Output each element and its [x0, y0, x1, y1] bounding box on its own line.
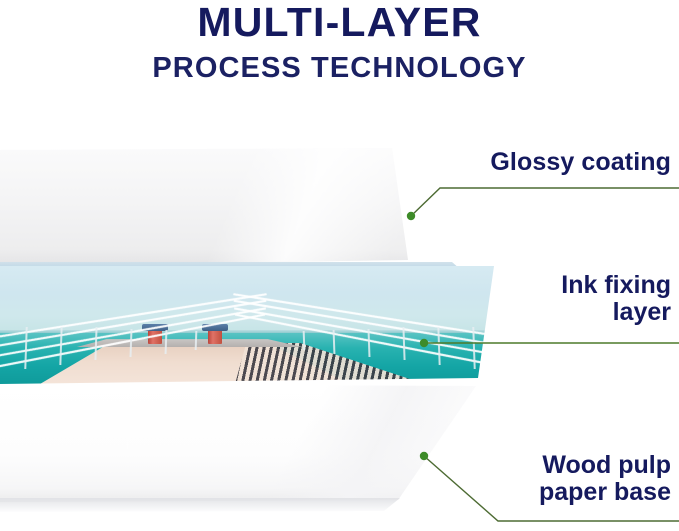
page-subtitle: PROCESS TECHNOLOGY — [0, 54, 679, 83]
photo-bollard-left — [148, 330, 162, 344]
pier-photograph — [0, 266, 500, 384]
wood-pulp-base-shadow — [0, 498, 420, 512]
callout-base-line-2: paper base — [441, 479, 671, 506]
photo-sky — [0, 266, 500, 332]
callout-glossy-coating: Glossy coating — [490, 149, 671, 176]
callout-ink-fixing-layer: Ink fixing layer — [441, 272, 671, 326]
page-title: MULTI-LAYER — [0, 2, 679, 43]
callout-wood-pulp-paper-base: Wood pulp paper base — [441, 452, 671, 506]
layer-ink-fixing — [0, 266, 500, 384]
photo-bollard-right — [208, 330, 222, 344]
layer-glossy-coating — [0, 148, 410, 266]
multi-layer-diagram: MULTI-LAYER PROCESS TECHNOLOGY — [0, 0, 679, 531]
title-block: MULTI-LAYER PROCESS TECHNOLOGY — [0, 0, 679, 83]
callout-ink-line-2: layer — [441, 299, 671, 326]
layer-wood-pulp-base — [0, 384, 482, 502]
callout-base-line-1: Wood pulp — [441, 452, 671, 479]
callout-glossy-line-1: Glossy coating — [490, 149, 671, 176]
callout-ink-line-1: Ink fixing — [441, 272, 671, 299]
